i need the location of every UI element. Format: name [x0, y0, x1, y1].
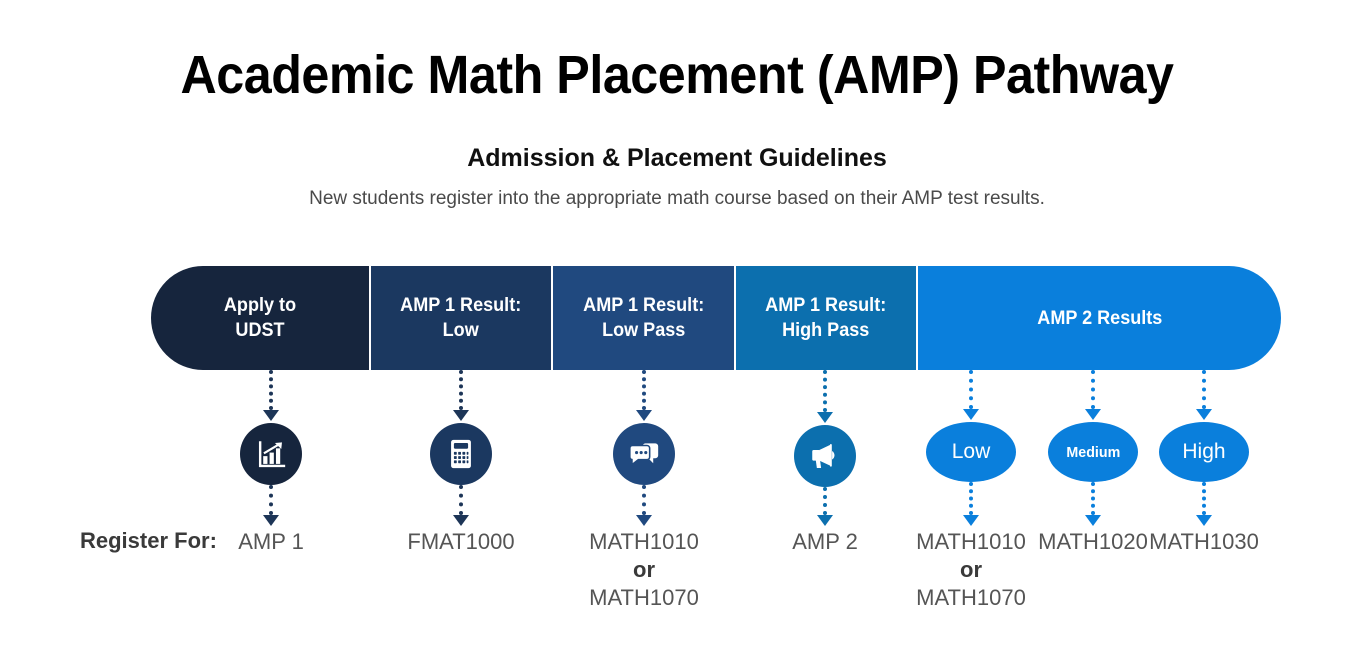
- connector-node-math1010-or-1070-lowpass-to-course: [642, 485, 650, 515]
- course-line: MATH1070: [916, 585, 1026, 610]
- course-line: MATH1010: [589, 529, 699, 554]
- arrowhead-node-math1010-or-1070-lowpass-to-course: [636, 515, 652, 526]
- arrowhead-to-node-amp2-high: [1196, 409, 1212, 420]
- stage-label: AMP 1 Result:Low: [400, 293, 521, 343]
- connector-node-amp2-to-course: [823, 487, 831, 515]
- amp-pathway-stages: Apply toUDSTAMP 1 Result:LowAMP 1 Result…: [151, 266, 1281, 370]
- arrowhead-node-amp2-high-to-course: [1196, 515, 1212, 526]
- result-ellipse-node-amp2-medium[interactable]: Medium: [1048, 422, 1138, 482]
- result-ellipse-label: Medium: [1066, 444, 1120, 461]
- stage-label: AMP 1 Result:Low Pass: [583, 293, 704, 343]
- connector-node-fmat1000-to-course: [459, 485, 467, 515]
- chat-bubbles-icon[interactable]: [613, 423, 675, 485]
- arrowhead-to-node-amp2-low: [963, 409, 979, 420]
- connector-bar-to-node-amp2-high: [1202, 370, 1210, 409]
- connector-node-amp2-medium-to-course: [1091, 482, 1099, 515]
- connector-bar-to-node-fmat1000: [459, 370, 467, 410]
- arrowhead-node-amp2-medium-to-course: [1085, 515, 1101, 526]
- stage-label: Apply toUDST: [224, 293, 296, 343]
- course-line: or: [960, 557, 982, 582]
- arrowhead-node-amp2-to-course: [817, 515, 833, 526]
- course-line: AMP 2: [792, 529, 858, 554]
- register-for-label: Register For:: [80, 528, 217, 554]
- result-ellipse-node-amp2-low[interactable]: Low: [926, 422, 1016, 482]
- page-description: New students register into the appropria…: [0, 186, 1354, 212]
- page-title: Academic Math Placement (AMP) Pathway: [47, 44, 1306, 106]
- course-line: FMAT1000: [407, 529, 514, 554]
- stage-amp1-low-pass[interactable]: AMP 1 Result:Low Pass: [553, 266, 736, 370]
- connector-node-amp2-low-to-course: [969, 482, 977, 515]
- arrowhead-node-amp1-to-course: [263, 515, 279, 526]
- stage-label-line2: Low Pass: [602, 320, 685, 341]
- arrowhead-to-node-fmat1000: [453, 410, 469, 421]
- connector-node-amp2-high-to-course: [1202, 482, 1210, 515]
- bar-chart-growth-icon[interactable]: [240, 423, 302, 485]
- connector-bar-to-node-amp2-medium: [1091, 370, 1099, 409]
- connector-node-amp1-to-course: [269, 485, 277, 515]
- page-subtitle: Admission & Placement Guidelines: [0, 142, 1354, 174]
- connector-bar-to-node-amp2: [823, 370, 831, 412]
- course-line: MATH1070: [589, 585, 699, 610]
- stage-label-line2: High Pass: [782, 320, 869, 341]
- stage-label-line2: Low: [443, 320, 479, 341]
- arrowhead-to-node-amp1: [263, 410, 279, 421]
- course-line: or: [633, 557, 655, 582]
- arrowhead-node-fmat1000-to-course: [453, 515, 469, 526]
- arrowhead-node-amp2-low-to-course: [963, 515, 979, 526]
- calculator-icon[interactable]: [430, 423, 492, 485]
- course-line: AMP 1: [238, 529, 304, 554]
- stage-label-line2: UDST: [235, 320, 284, 341]
- megaphone-icon[interactable]: [794, 425, 856, 487]
- stage-label: AMP 1 Result:High Pass: [765, 293, 886, 343]
- connector-bar-to-node-math1010-or-1070-lowpass: [642, 370, 650, 410]
- stage-label: AMP 2 Results: [1037, 306, 1162, 331]
- arrowhead-to-node-amp2-medium: [1085, 409, 1101, 420]
- stage-apply-to-udst[interactable]: Apply toUDST: [151, 266, 371, 370]
- result-ellipse-label: High: [1182, 440, 1225, 464]
- arrowhead-to-node-math1010-or-1070-lowpass: [636, 410, 652, 421]
- result-ellipse-label: Low: [952, 440, 991, 464]
- course-line: MATH1030: [1149, 529, 1259, 554]
- stage-amp2-results[interactable]: AMP 2 Results: [918, 266, 1281, 370]
- stage-amp1-high-pass[interactable]: AMP 1 Result:High Pass: [736, 266, 918, 370]
- arrowhead-to-node-amp2: [817, 412, 833, 423]
- stage-amp1-low[interactable]: AMP 1 Result:Low: [371, 266, 553, 370]
- result-ellipse-node-amp2-high[interactable]: High: [1159, 422, 1249, 482]
- course-label-node-amp2-high: MATH1030: [1094, 528, 1314, 556]
- connector-bar-to-node-amp1: [269, 370, 277, 410]
- connector-bar-to-node-amp2-low: [969, 370, 977, 409]
